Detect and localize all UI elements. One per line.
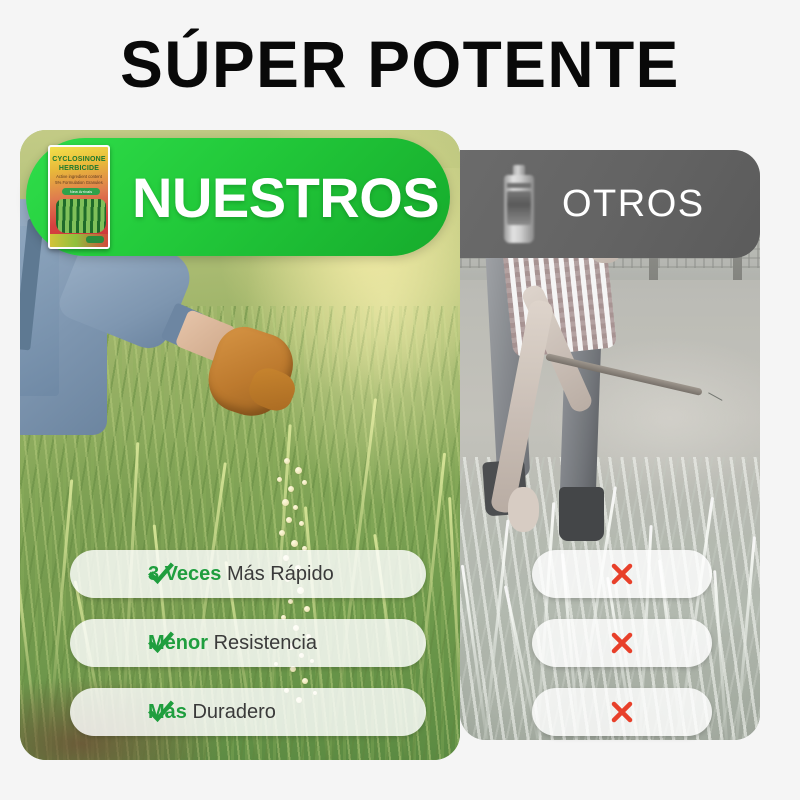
packet-footer bbox=[50, 234, 108, 247]
check-icon bbox=[148, 699, 174, 725]
packet-title: CYCLOSINONE bbox=[50, 156, 108, 164]
others-feature-1 bbox=[532, 550, 712, 598]
cross-icon bbox=[610, 700, 634, 724]
check-icon bbox=[148, 561, 174, 587]
packet-subtitle: HERBICIDE bbox=[50, 165, 108, 173]
packet-crop-image bbox=[56, 199, 106, 233]
comparison-poster: SÚPER POTENTE bbox=[0, 0, 800, 800]
herbicide-packet-icon: CYCLOSINONE HERBICIDE Active ingredient … bbox=[48, 145, 110, 249]
spray-bottle-icon bbox=[504, 165, 534, 243]
ours-feature-1: 3 Veces Más Rápido bbox=[70, 550, 426, 598]
others-feature-2 bbox=[532, 619, 712, 667]
ours-badge-label: NUESTROS bbox=[132, 165, 439, 230]
ours-badge: CYCLOSINONE HERBICIDE Active ingredient … bbox=[26, 138, 450, 256]
page-title: SÚPER POTENTE bbox=[12, 26, 788, 102]
ours-feature-2-rest: Resistencia bbox=[214, 632, 317, 654]
others-badge-label: OTROS bbox=[562, 183, 705, 226]
packet-description: Active ingredient content 5% Formulation… bbox=[50, 174, 108, 186]
packet-tag: New Arrivals bbox=[62, 188, 100, 195]
cross-icon bbox=[610, 631, 634, 655]
ours-feature-1-rest: Más Rápido bbox=[227, 563, 334, 585]
others-badge: OTROS bbox=[460, 150, 760, 258]
check-icon bbox=[148, 630, 174, 656]
ours-feature-3: Más Duradero bbox=[70, 688, 426, 736]
cross-icon bbox=[610, 562, 634, 586]
others-feature-3 bbox=[532, 688, 712, 736]
ours-feature-2: Menor Resistencia bbox=[70, 619, 426, 667]
ours-feature-3-rest: Duradero bbox=[192, 701, 275, 723]
